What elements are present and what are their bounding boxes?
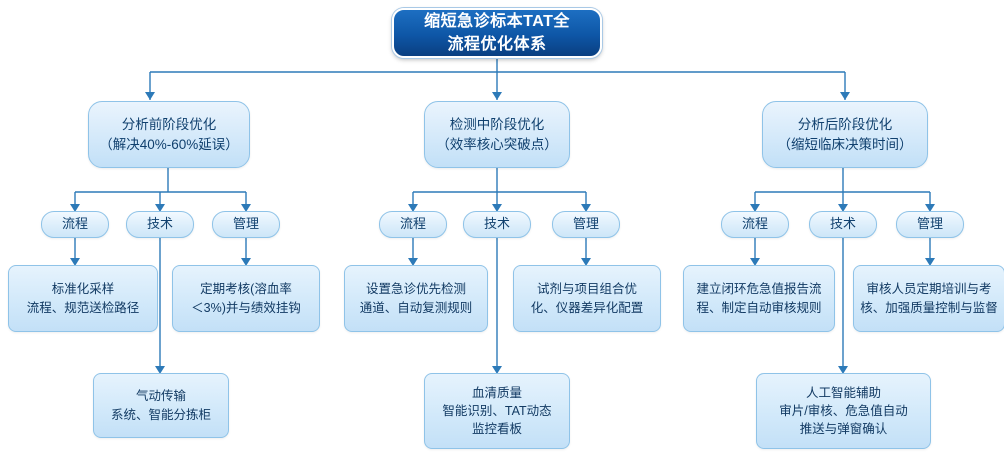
leaf-label: 试剂与项目组合优 化、仪器差异化配置 xyxy=(520,280,654,316)
root-node[interactable]: 缩短急诊标本TAT全 流程优化体系 xyxy=(392,8,602,58)
leaf-label: 审核人员定期培训与考 核、加强质量控制与监督 xyxy=(860,280,998,316)
category-label: 流程 xyxy=(380,215,446,234)
stage-node-analytical[interactable]: 检测中阶段优化 （效率核心突破点） xyxy=(424,101,570,168)
leaf-box-management-2[interactable]: 试剂与项目组合优 化、仪器差异化配置 xyxy=(513,265,661,332)
summary-box-pre-analytical[interactable]: 气动传输 系统、智能分拣柜 xyxy=(93,373,229,438)
leaf-label: 建立闭环危急值报告流 程、制定自动审核规则 xyxy=(690,280,828,316)
summary-box-analytical[interactable]: 血清质量 智能识别、TAT动态 监控看板 xyxy=(424,373,570,449)
category-pill-process-3[interactable]: 流程 xyxy=(721,211,789,238)
leaf-box-process-3[interactable]: 建立闭环危急值报告流 程、制定自动审核规则 xyxy=(683,265,835,332)
leaf-box-process-2[interactable]: 设置急诊优先检测 通道、自动复测规则 xyxy=(344,265,488,332)
leaf-label: 定期考核(溶血率 ＜3%)并与绩效挂钩 xyxy=(179,280,313,316)
category-pill-process-2[interactable]: 流程 xyxy=(379,211,447,238)
stage-node-post-analytical[interactable]: 分析后阶段优化 （缩短临床决策时间） xyxy=(762,101,928,168)
category-pill-management-2[interactable]: 管理 xyxy=(552,211,620,238)
root-node-label: 缩短急诊标本TAT全 流程优化体系 xyxy=(394,10,600,56)
leaf-label: 标准化采样 流程、规范送检路径 xyxy=(15,280,151,316)
summary-box-post-analytical[interactable]: 人工智能辅助 审片/审核、危急值自动 推送与弹窗确认 xyxy=(756,373,931,449)
stage-label: 检测中阶段优化 （效率核心突破点） xyxy=(425,115,569,154)
leaf-box-process-1[interactable]: 标准化采样 流程、规范送检路径 xyxy=(8,265,158,332)
category-pill-technology-1[interactable]: 技术 xyxy=(126,211,194,238)
category-label: 技术 xyxy=(127,215,193,234)
category-pill-technology-3[interactable]: 技术 xyxy=(809,211,877,238)
category-pill-management-3[interactable]: 管理 xyxy=(896,211,964,238)
stage-node-pre-analytical[interactable]: 分析前阶段优化 （解决40%-60%延误） xyxy=(88,101,250,168)
category-pill-process-1[interactable]: 流程 xyxy=(41,211,109,238)
category-label: 技术 xyxy=(464,215,530,234)
leaf-label: 设置急诊优先检测 通道、自动复测规则 xyxy=(351,280,481,316)
category-label: 管理 xyxy=(213,215,279,234)
category-label: 技术 xyxy=(810,215,876,234)
summary-label: 血清质量 智能识别、TAT动态 监控看板 xyxy=(431,384,563,438)
stage-label: 分析后阶段优化 （缩短临床决策时间） xyxy=(763,115,927,154)
category-pill-management-1[interactable]: 管理 xyxy=(212,211,280,238)
category-label: 管理 xyxy=(553,215,619,234)
category-label: 流程 xyxy=(42,215,108,234)
diagram-canvas: 缩短急诊标本TAT全 流程优化体系 分析前阶段优化 （解决40%-60%延误） … xyxy=(0,0,1004,461)
summary-label: 人工智能辅助 审片/审核、危急值自动 推送与弹窗确认 xyxy=(763,384,924,438)
stage-label: 分析前阶段优化 （解决40%-60%延误） xyxy=(89,115,249,154)
leaf-box-management-3[interactable]: 审核人员定期培训与考 核、加强质量控制与监督 xyxy=(853,265,1004,332)
summary-label: 气动传输 系统、智能分拣柜 xyxy=(100,387,222,423)
category-label: 流程 xyxy=(722,215,788,234)
category-label: 管理 xyxy=(897,215,963,234)
category-pill-technology-2[interactable]: 技术 xyxy=(463,211,531,238)
leaf-box-management-1[interactable]: 定期考核(溶血率 ＜3%)并与绩效挂钩 xyxy=(172,265,320,332)
